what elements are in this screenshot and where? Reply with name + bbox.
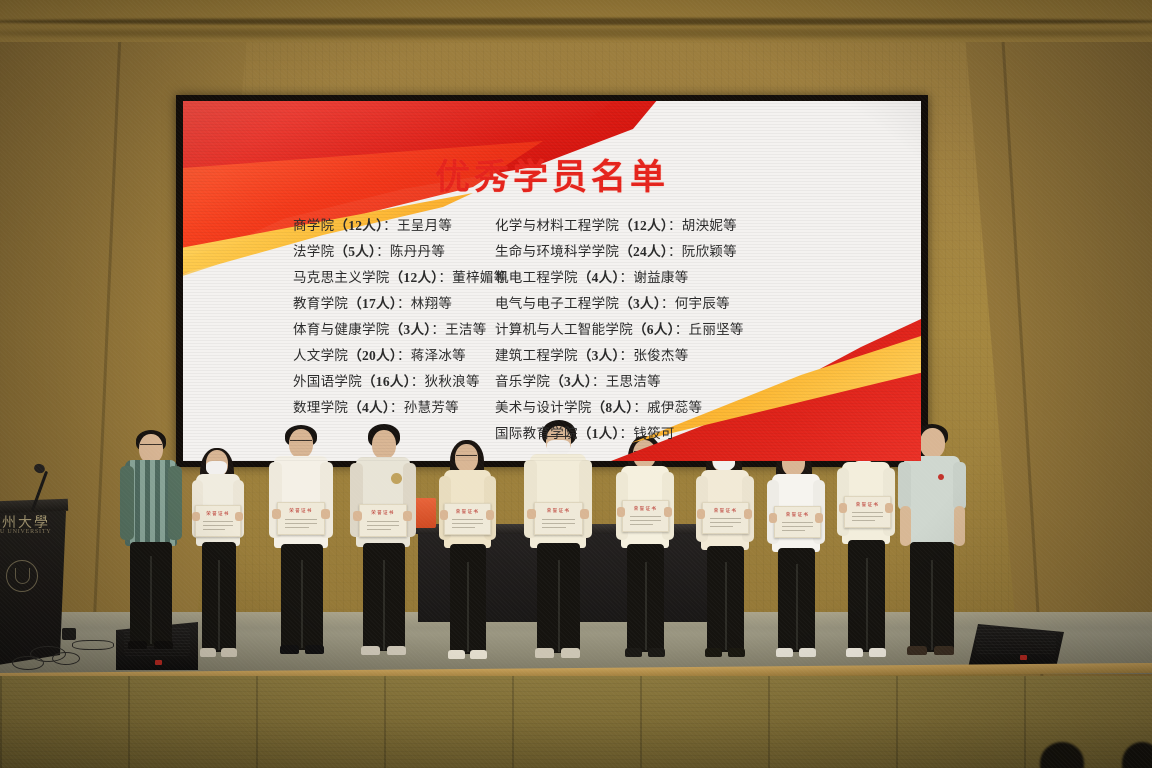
slide-row-right-3: 机电工程学院（4人）：谢益康等 — [495, 265, 921, 291]
certificate: 荣誉证书 — [844, 496, 891, 528]
shoe-right — [799, 648, 816, 657]
led-screen: 优秀学员名单 商学院（12人）：王呈月等法学院（5人）：陈丹丹等马克思主义学院（… — [183, 101, 921, 461]
student-name: 何宇辰等 — [675, 296, 730, 311]
separator: ： — [397, 348, 411, 363]
podium-university-name-en: U UNIVERSITY — [0, 529, 51, 535]
leg-gap — [558, 560, 560, 652]
college-count: （1人） — [578, 426, 620, 441]
hand-left — [440, 510, 448, 520]
student-name: 王呈月等 — [397, 218, 452, 233]
student-name: 林翔等 — [411, 296, 452, 311]
college-name: 体育与健康学院 — [293, 322, 390, 337]
college-count: （12人） — [334, 218, 383, 233]
slide-row-right-5: 计算机与人工智能学院（6人）：丘丽坚等 — [495, 317, 921, 343]
speaker-brand-badge — [155, 660, 162, 665]
college-count: （5人） — [334, 244, 376, 259]
hand-left — [353, 511, 362, 521]
certificate-header: 荣誉证书 — [445, 509, 490, 515]
separator: ： — [397, 296, 411, 311]
separator: ： — [431, 322, 445, 337]
slide-row-left-7: 外国语学院（16人）：狄秋浪等 — [293, 369, 473, 395]
student-name: 阮欣颖等 — [682, 244, 737, 259]
separator: ： — [668, 244, 682, 259]
shoe-left — [448, 650, 465, 659]
college-count: （3人） — [550, 374, 592, 389]
university-crest-logo — [6, 560, 38, 592]
college-count: （4人） — [578, 270, 620, 285]
separator: ： — [661, 296, 675, 311]
college-name: 法学院 — [293, 244, 334, 259]
college-name: 美术与设计学院 — [495, 400, 592, 415]
certificate: 荣誉证书 — [277, 502, 325, 535]
ceiling-edge-shadow — [0, 18, 1152, 25]
shoe-left — [535, 648, 554, 658]
shoe-left — [776, 648, 793, 657]
certificate-header: 荣誉证书 — [845, 502, 890, 508]
college-name: 计算机与人工智能学院 — [495, 322, 633, 337]
hand-right — [486, 510, 494, 520]
college-name: 商学院 — [293, 218, 334, 233]
slide-row-right-1: 化学与材料工程学院（12人）：胡泱妮等 — [495, 213, 921, 239]
forearm-right — [954, 506, 965, 546]
college-name: 生命与环境科学学院 — [495, 244, 619, 259]
hand-left — [839, 503, 847, 513]
hand-left — [617, 507, 625, 517]
college-name: 音乐学院 — [495, 374, 550, 389]
separator: ： — [390, 400, 404, 415]
lapel-badge — [938, 474, 944, 480]
student-name: 蒋泽冰等 — [411, 348, 466, 363]
shoe-right — [648, 648, 665, 657]
auditorium-photo: 优秀学员名单 商学院（12人）：王呈月等法学院（5人）：陈丹丹等马克思主义学院（… — [0, 0, 1152, 768]
head — [920, 428, 945, 458]
hand-left — [769, 513, 777, 523]
slide-row-left-8: 数理学院（4人）：孙慧芳等 — [293, 395, 473, 421]
slide-columns: 商学院（12人）：王呈月等法学院（5人）：陈丹丹等马克思主义学院（12人）：董梓… — [183, 213, 921, 447]
leg-gap — [866, 558, 868, 650]
college-count: （3人） — [390, 322, 432, 337]
slide-row-right-4: 电气与电子工程学院（3人）：何宇辰等 — [495, 291, 921, 317]
shoe-left — [200, 648, 216, 657]
arm-right — [168, 466, 182, 540]
shoe-right — [221, 648, 237, 657]
college-count: （20人） — [348, 348, 397, 363]
shoe-left — [128, 641, 147, 649]
shoe-right — [305, 645, 324, 654]
hand-right — [664, 507, 672, 517]
leg-gap — [150, 556, 152, 644]
student-name: 孙慧芳等 — [404, 400, 459, 415]
arm-right — [953, 462, 966, 510]
shoe-left — [846, 648, 863, 657]
slide-row-right-6: 建筑工程学院（3人）：张俊杰等 — [495, 343, 921, 369]
college-name: 外国语学院 — [293, 374, 362, 389]
shoe-left — [280, 645, 299, 654]
shoe-left — [705, 648, 722, 657]
forearm-left — [900, 506, 911, 546]
shirt-emblem — [391, 473, 402, 484]
shoe-left — [907, 646, 927, 655]
certificate-header: 荣誉证书 — [196, 511, 240, 517]
certificate-header: 荣誉证书 — [278, 508, 324, 514]
slide-row-right-9: 国际教育学院（1人）：钱筱可 — [495, 421, 921, 447]
shoe-right — [154, 641, 173, 649]
student-name: 戚伊蕊等 — [647, 400, 702, 415]
leg-gap — [218, 560, 220, 650]
torso-shirt — [904, 456, 960, 544]
shoe-right — [387, 646, 406, 655]
college-count: （3人） — [578, 348, 620, 363]
ceiling-edge-shadow-2 — [0, 28, 1152, 38]
slide-column-left: 商学院（12人）：王呈月等法学院（5人）：陈丹丹等马克思主义学院（12人）：董梓… — [183, 213, 473, 447]
leg-gap — [796, 564, 798, 650]
shoe-right — [561, 648, 580, 658]
hand-right — [235, 512, 243, 521]
separator: ： — [592, 374, 606, 389]
college-name: 国际教育学院 — [495, 426, 578, 441]
college-name: 数理学院 — [293, 400, 348, 415]
slide-row-left-2: 法学院（5人）：陈丹丹等 — [293, 239, 473, 265]
hand-right — [321, 509, 330, 519]
college-name: 教育学院 — [293, 296, 348, 311]
slide-row-left-3: 马克思主义学院（12人）：董梓媚等 — [293, 265, 473, 291]
certificate-header: 荣誉证书 — [623, 506, 668, 512]
hand-left — [697, 509, 705, 519]
floor-cable — [12, 656, 44, 670]
leg-gap — [383, 560, 385, 650]
college-count: （24人） — [619, 244, 668, 259]
shoe-left — [361, 646, 380, 655]
shoe-right — [728, 648, 745, 657]
college-name: 电气与电子工程学院 — [495, 296, 619, 311]
slide-row-right-7: 音乐学院（3人）：王思洁等 — [495, 369, 921, 395]
student-name: 丘丽坚等 — [689, 322, 744, 337]
slide-row-right-2: 生命与环境科学学院（24人）：阮欣颖等 — [495, 239, 921, 265]
college-count: （12人） — [619, 218, 668, 233]
separator: ： — [620, 426, 634, 441]
floor-connector-box — [62, 628, 76, 640]
hand-right — [580, 509, 589, 519]
shoe-right — [470, 650, 487, 659]
college-name: 机电工程学院 — [495, 270, 578, 285]
separator: ： — [376, 244, 390, 259]
college-count: （8人） — [592, 400, 634, 415]
hand-right — [885, 503, 893, 513]
separator: ： — [620, 348, 634, 363]
floor-cable — [52, 652, 80, 665]
college-count: （16人） — [362, 374, 411, 389]
college-count: （12人） — [390, 270, 439, 285]
certificate: 荣誉证书 — [534, 502, 583, 535]
hand-left — [192, 512, 200, 521]
glasses — [140, 444, 162, 450]
college-name: 马克思主义学院 — [293, 270, 390, 285]
student-name: 王思洁等 — [606, 374, 661, 389]
certificate: 荣誉证书 — [774, 506, 821, 538]
certificate: 荣誉证书 — [702, 502, 749, 534]
certificate-header: 荣誉证书 — [535, 508, 582, 514]
student-name: 狄秋浪等 — [425, 374, 480, 389]
slide-row-left-5: 体育与健康学院（3人）：王洁等 — [293, 317, 473, 343]
college-count: （4人） — [348, 400, 390, 415]
shoe-left — [625, 648, 642, 657]
shoe-right — [869, 648, 886, 657]
college-name: 人文学院 — [293, 348, 348, 363]
certificate: 荣誉证书 — [359, 504, 407, 537]
slide-column-right: 化学与材料工程学院（12人）：胡泱妮等生命与环境科学学院（24人）：阮欣颖等机电… — [473, 213, 921, 447]
floor-cable — [72, 640, 114, 650]
slide-row-left-6: 人文学院（20人）：蒋泽冰等 — [293, 343, 473, 369]
separator: ： — [633, 400, 647, 415]
separator: ： — [675, 322, 689, 337]
speaker-brand-badge — [1020, 655, 1027, 660]
separator: ： — [438, 270, 452, 285]
hand-right — [403, 511, 412, 521]
hand-right — [744, 509, 752, 519]
college-count: （3人） — [619, 296, 661, 311]
certificate: 荣誉证书 — [622, 500, 669, 532]
leg-gap — [725, 562, 727, 650]
hand-left — [527, 509, 536, 519]
certificate: 荣誉证书 — [444, 503, 491, 535]
leg-gap — [645, 562, 647, 650]
separator: ： — [383, 218, 397, 233]
leg-gap — [301, 560, 303, 648]
slide-row-left-1: 商学院（12人）：王呈月等 — [293, 213, 473, 239]
hand-left — [272, 509, 281, 519]
student-name: 胡泱妮等 — [682, 218, 737, 233]
arm-left — [898, 462, 911, 510]
student-name: 钱筱可 — [633, 426, 674, 441]
slide-row-right-8: 美术与设计学院（8人）：戚伊蕊等 — [495, 395, 921, 421]
stage-front-grain — [0, 676, 1152, 768]
separator: ： — [668, 218, 682, 233]
slide-title: 优秀学员名单 — [183, 149, 921, 200]
college-name: 建筑工程学院 — [495, 348, 578, 363]
separator: ： — [620, 270, 634, 285]
certificate-header: 荣誉证书 — [775, 512, 820, 518]
separator: ： — [411, 374, 425, 389]
student-name: 陈丹丹等 — [390, 244, 445, 259]
certificate-header: 荣誉证书 — [703, 508, 748, 514]
hand-right — [815, 513, 823, 523]
college-count: （17人） — [348, 296, 397, 311]
arm-left — [120, 466, 134, 540]
certificate: 荣誉证书 — [195, 505, 241, 537]
leg-gap — [467, 562, 469, 652]
student-name: 张俊杰等 — [633, 348, 688, 363]
college-count: （6人） — [633, 322, 675, 337]
certificate-header: 荣誉证书 — [360, 510, 406, 516]
shoe-right — [934, 646, 954, 655]
student-name: 谢益康等 — [633, 270, 688, 285]
glasses — [456, 455, 477, 461]
college-name: 化学与材料工程学院 — [495, 218, 619, 233]
slide-row-left-4: 教育学院（17人）：林翔等 — [293, 291, 473, 317]
leg-gap — [931, 560, 933, 650]
